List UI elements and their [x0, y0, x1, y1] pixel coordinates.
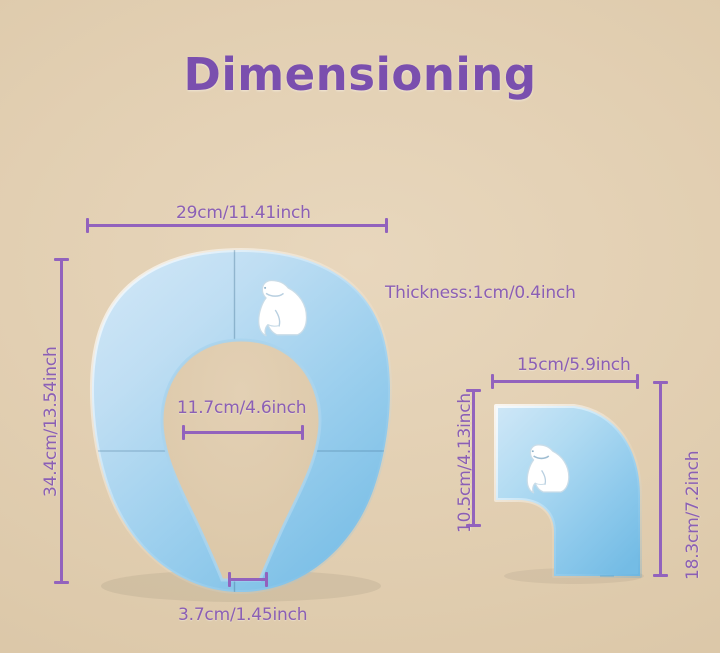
dimension-label-seat-height: 34.4cm/13.54inch	[41, 346, 61, 497]
dimension-label-inner-opening-width: 11.7cm/4.6inch	[177, 398, 306, 418]
dimension-line-bottom-gap	[228, 578, 268, 581]
dimension-line-folded-width	[491, 380, 639, 383]
page-title: Dimensioning	[0, 48, 720, 101]
dimension-line-seat-width	[86, 224, 388, 227]
dimension-line-inner-opening-width	[182, 431, 304, 434]
toilet-seat-folded-illustration	[488, 400, 648, 582]
dimension-line-folded-left-height	[472, 389, 475, 527]
dimensioning-infographic: Dimensioning	[0, 0, 720, 653]
dimension-line-folded-right-height	[659, 381, 662, 577]
dimension-line-seat-height	[60, 258, 63, 584]
dimension-label-folded-width: 15cm/5.9inch	[517, 355, 631, 375]
dimension-label-seat-width: 29cm/11.41inch	[176, 203, 311, 223]
dimension-label-folded-right-height: 18.3cm/7.2inch	[683, 451, 703, 580]
toilet-seat-unfolded-illustration	[88, 248, 394, 596]
dimension-label-thickness: Thickness:1cm/0.4inch	[385, 283, 576, 303]
dimension-label-bottom-gap: 3.7cm/1.45inch	[178, 605, 307, 625]
